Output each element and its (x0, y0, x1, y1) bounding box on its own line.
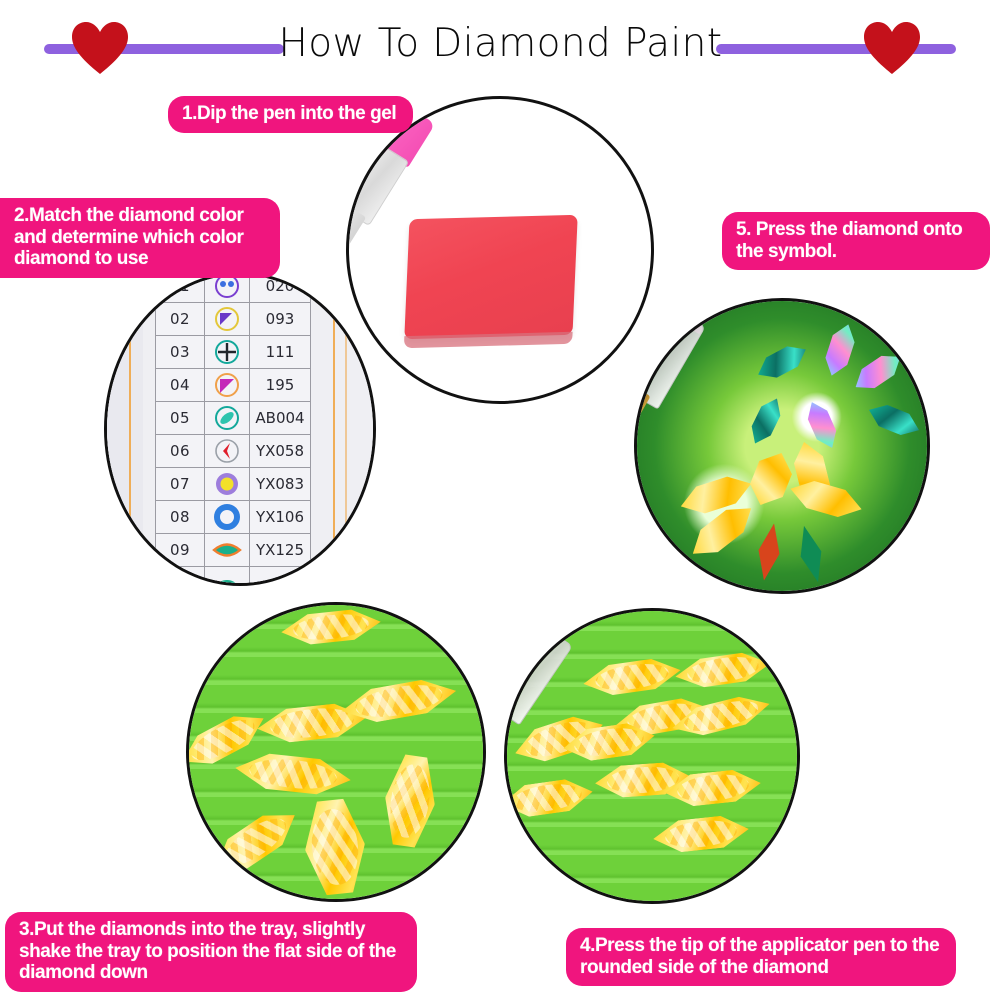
color-code-table: 01 020 02 093 (155, 272, 311, 586)
chart-margin-line (129, 275, 131, 583)
row-number: 04 (156, 369, 205, 402)
step-3-label: 3.Put the diamonds into the tray, slight… (5, 912, 417, 992)
row-code (250, 567, 311, 587)
chart-margin-line (333, 275, 335, 583)
row-symbol (205, 336, 250, 369)
yellow-disc-in-purple-ring-icon (205, 469, 249, 499)
row-number: 08 (156, 501, 205, 534)
page-title: How To Diamond Paint (0, 21, 1001, 66)
step-4-photo (504, 608, 800, 904)
row-symbol (205, 567, 250, 587)
step-1-label: 1.Dip the pen into the gel (168, 96, 413, 133)
color-code-chart-image: 01 020 02 093 (107, 275, 373, 583)
table-row: 06 YX058 (156, 435, 311, 468)
row-symbol (205, 402, 250, 435)
step-2-label: 2.Match the diamond color and determine … (0, 198, 280, 278)
step-5-label: 5. Press the diamond onto the symbol. (722, 212, 990, 270)
row-code: YX058 (250, 435, 311, 468)
gel-wax-square (404, 215, 577, 339)
row-symbol (205, 435, 250, 468)
table-row: 02 093 (156, 303, 311, 336)
diamonds-in-tray-image (189, 605, 483, 899)
row-code: YX125 (250, 534, 311, 567)
teal-shape-icon (205, 568, 249, 586)
table-row: 03 111 (156, 336, 311, 369)
row-number: 02 (156, 303, 205, 336)
table-row: 08 YX106 (156, 501, 311, 534)
diamond-onto-symbol-image (637, 301, 927, 591)
table-row: 07 YX083 (156, 468, 311, 501)
red-chevron-in-circle-icon (205, 436, 249, 466)
step-4-label: 4.Press the tip of the applicator pen to… (566, 928, 956, 986)
row-symbol (205, 534, 250, 567)
row-code: AB004 (250, 402, 311, 435)
chart-margin-line (345, 275, 347, 583)
pen-tip (346, 226, 348, 265)
magenta-triangle-in-orange-circle-icon (205, 370, 249, 400)
row-code: 111 (250, 336, 311, 369)
pen-dipping-into-gel-image (349, 99, 651, 401)
row-symbol (205, 501, 250, 534)
row-code: 195 (250, 369, 311, 402)
header: How To Diamond Paint (0, 0, 1001, 80)
row-number: 07 (156, 468, 205, 501)
row-code: YX106 (250, 501, 311, 534)
teal-leaf-in-orange-outline-icon (205, 535, 249, 565)
how-to-diamond-paint-infographic: How To Diamond Paint 01 (0, 0, 1001, 1001)
step-5-photo (634, 298, 930, 594)
step-3-photo (186, 602, 486, 902)
table-row: 05 AB004 (156, 402, 311, 435)
blue-donut-ring-icon (205, 502, 249, 532)
step-1-photo (346, 96, 654, 404)
teal-plus-in-circle-icon (205, 337, 249, 367)
row-number: 09 (156, 534, 205, 567)
table-row (156, 567, 311, 587)
row-code: 093 (250, 303, 311, 336)
row-number: 05 (156, 402, 205, 435)
table-row: 09 YX125 (156, 534, 311, 567)
row-symbol (205, 468, 250, 501)
row-number: 06 (156, 435, 205, 468)
step-2-photo: 01 020 02 093 (104, 272, 376, 586)
row-code: YX083 (250, 468, 311, 501)
teal-ellipse-in-circle-icon (205, 403, 249, 433)
row-symbol (205, 303, 250, 336)
row-number (156, 567, 205, 587)
purple-triangle-in-yellow-circle-icon (205, 304, 249, 334)
row-symbol (205, 369, 250, 402)
table-row: 04 195 (156, 369, 311, 402)
pen-pressing-diamond-image (507, 611, 797, 901)
row-number: 03 (156, 336, 205, 369)
